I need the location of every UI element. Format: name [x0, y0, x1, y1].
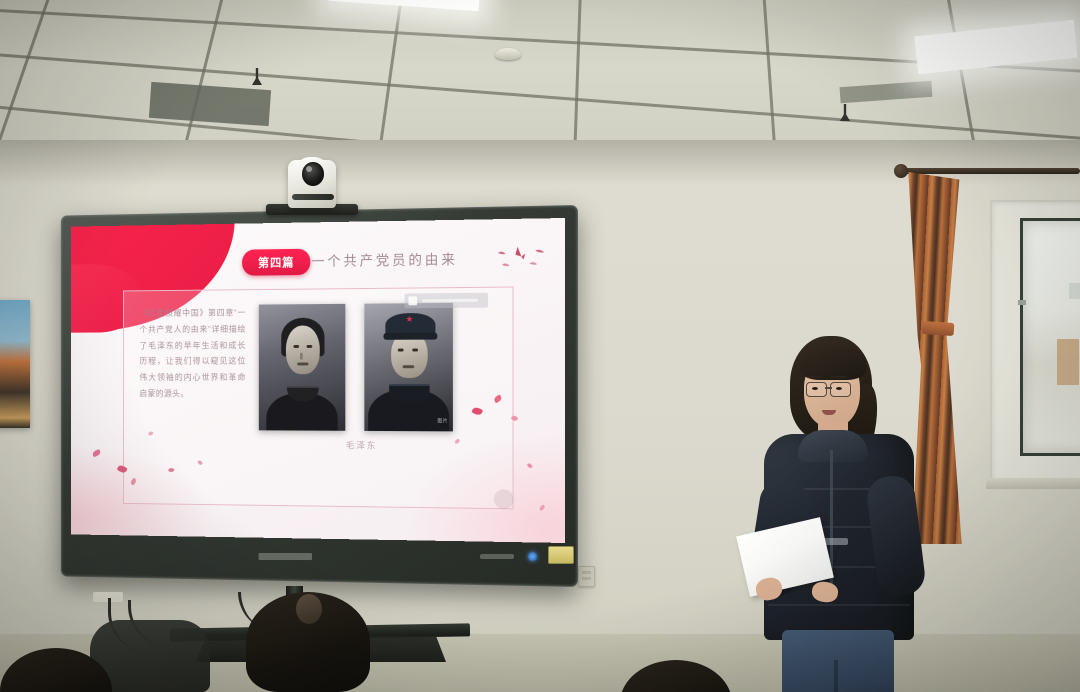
display-asset-tag [548, 546, 574, 564]
slide-section-badge: 第四篇 [242, 249, 310, 276]
red-star-icon: ★ [406, 314, 414, 325]
presenter-jeans [782, 630, 894, 692]
display-power-led-icon[interactable] [528, 552, 537, 561]
framed-landscape-poster [0, 300, 30, 428]
window-latch-icon[interactable] [1018, 300, 1026, 305]
air-vent-icon-2 [840, 81, 933, 103]
student-presenter [746, 330, 926, 692]
floating-toolbar-overlay[interactable] [405, 293, 488, 309]
jeans-seam [834, 660, 838, 692]
ceiling-light-panel-right [914, 20, 1077, 75]
slide-paragraph: 《红星照耀中国》第四章“一个共产党人的由来”详细描绘了毛泽东的早年生活和成长历程… [139, 305, 245, 402]
mao-in-military-cap-portrait: ★ 图片 [364, 303, 453, 431]
camera-lens-icon [302, 162, 324, 186]
air-vent-icon [149, 82, 271, 126]
photo-watermark: 图片 [437, 417, 448, 424]
smoke-detector-icon [495, 48, 521, 60]
ceiling [0, 0, 1080, 150]
curtain-rod [898, 168, 1080, 174]
display-screen[interactable]: 第四篇 一个共产党员的由来 《红星照耀中国》第四章“一个共产党人的由来”详细描绘… [71, 218, 565, 543]
wall-socket[interactable] [578, 566, 595, 587]
glasses-bridge-icon [825, 387, 832, 389]
presenter-fringe [800, 346, 866, 380]
ceiling-light-panel-left [329, 0, 481, 11]
display-port-strip[interactable] [480, 554, 514, 559]
presentation-slide: 第四篇 一个共产党员的由来 《红星照耀中国》第四章“一个共产党人的由来”详细描绘… [71, 218, 565, 543]
flying-birds-icon [492, 242, 545, 273]
young-mao-portrait [259, 304, 345, 431]
audience-hair-part [296, 594, 322, 624]
slide-logo-watermark [494, 489, 514, 509]
curtain-rod-finial-icon [894, 164, 908, 178]
interior-window-glass [1020, 218, 1080, 456]
classroom-presentation-scene: 第四篇 一个共产党员的由来 《红星照耀中国》第四章“一个共产党人的由来”详细描绘… [0, 0, 1080, 692]
slide-photo-caption: 毛泽东 [319, 438, 405, 451]
window-sill [986, 478, 1080, 489]
window-far-door [1057, 339, 1079, 385]
jacket-collar [798, 430, 868, 462]
display-assembly: 第四篇 一个共产党员的由来 《红星照耀中国》第四章“一个共产党人的由来”详细描绘… [28, 205, 578, 587]
camera-indicator-strip [292, 194, 334, 200]
slide-title: 一个共产党员的由来 [311, 250, 457, 272]
display-brand-logo [259, 553, 312, 560]
window-far-sign [1069, 283, 1080, 299]
curtain-tieback[interactable] [922, 321, 955, 336]
